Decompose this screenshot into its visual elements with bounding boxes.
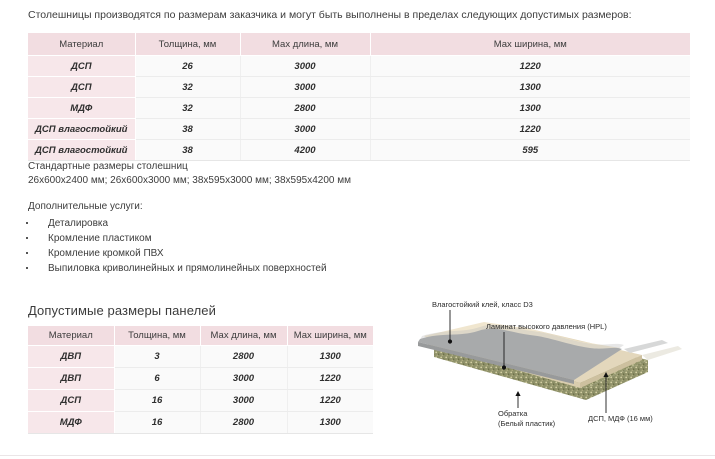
table-row: ДВП 6 3000 1220: [28, 368, 373, 390]
table-header-row: Материал Толщина, мм Мах длина, мм Мах ш…: [28, 326, 373, 346]
cell-thickness: 32: [135, 77, 240, 98]
cell-thickness: 3: [114, 346, 200, 368]
cell-max-length: 3000: [240, 56, 370, 77]
figure-label-backing: Обратка (Белый пластик): [498, 409, 555, 428]
cell-thickness: 6: [114, 368, 200, 390]
cell-material: ДСП: [28, 390, 114, 412]
services-list: Деталировка Кромление пластиком Кромлени…: [26, 216, 327, 276]
cell-max-width: 1300: [287, 412, 373, 434]
page-title-panels: Допустимые размеры панелей: [28, 303, 216, 318]
leader-dot-glue: [448, 339, 452, 343]
column-header-max-width: Мах ширина, мм: [287, 326, 373, 346]
footer-divider: [0, 455, 715, 456]
table-row: ДСП влагостойкий 38 3000 1220: [28, 119, 690, 140]
column-header-thickness: Толщина, мм: [114, 326, 200, 346]
column-header-max-width: Мах ширина, мм: [370, 33, 690, 56]
list-item: Кромление пластиком: [26, 231, 327, 246]
cell-material: ДВП: [28, 368, 114, 390]
cell-max-width: 1300: [370, 98, 690, 119]
cell-thickness: 32: [135, 98, 240, 119]
table-row: ДСП 16 3000 1220: [28, 390, 373, 412]
cell-max-length: 2800: [240, 98, 370, 119]
standard-sizes-values: 26х600х2400 мм; 26х600х3000 мм; 38х595х3…: [28, 174, 448, 188]
table-row: ДСП 26 3000 1220: [28, 56, 690, 77]
figure-label-hpl: Ламинат высокого давления (HPL): [486, 322, 607, 332]
list-item: Выпиловка криволинейных и прямолинейных …: [26, 261, 327, 276]
standard-sizes-title: Стандартные размеры столешниц: [28, 160, 448, 174]
list-item: Кромление кромкой ПВХ: [26, 246, 327, 261]
column-header-max-length: Мах длина, мм: [200, 326, 287, 346]
cell-max-length: 3000: [240, 119, 370, 140]
cell-max-width: 1300: [370, 77, 690, 98]
column-header-material: Материал: [28, 326, 114, 346]
cell-material: МДФ: [28, 98, 135, 119]
table-row: ДСП 32 3000 1300: [28, 77, 690, 98]
cell-max-width: 1300: [287, 346, 373, 368]
cell-material: ДСП влагостойкий: [28, 119, 135, 140]
table-row: ДВП 3 2800 1300: [28, 346, 373, 368]
services-title: Дополнительные услуги:: [28, 200, 143, 214]
cell-thickness: 38: [135, 140, 240, 161]
intro-paragraph: Столешницы производятся по размерам зака…: [28, 8, 698, 22]
cell-thickness: 26: [135, 56, 240, 77]
panel-cutaway-figure: Влагостойкий клей, класс D3 Ламинат высо…: [410, 296, 710, 446]
column-header-max-length: Мах длина, мм: [240, 33, 370, 56]
cell-max-width: 1220: [370, 56, 690, 77]
cell-material: ДВП: [28, 346, 114, 368]
cell-material: ДСП влагостойкий: [28, 140, 135, 161]
table-header-row: Материал Толщина, мм Мах длина, мм Мах ш…: [28, 33, 690, 56]
cell-thickness: 16: [114, 412, 200, 434]
worktop-sizes-table: Материал Толщина, мм Мах длина, мм Мах ш…: [28, 33, 690, 161]
list-item: Деталировка: [26, 216, 327, 231]
cell-max-width: 595: [370, 140, 690, 161]
leader-dot-hpl: [502, 365, 506, 369]
cell-max-length: 2800: [200, 412, 287, 434]
leader-arrow-backing: [515, 391, 520, 396]
cell-max-length: 2800: [200, 346, 287, 368]
figure-label-backing-line1: Обратка: [498, 409, 555, 419]
cell-max-length: 3000: [200, 368, 287, 390]
cell-max-width: 1220: [287, 368, 373, 390]
standard-sizes-block: Стандартные размеры столешниц 26х600х240…: [28, 160, 448, 187]
cell-thickness: 38: [135, 119, 240, 140]
cell-material: ДСП: [28, 77, 135, 98]
cell-max-width: 1220: [370, 119, 690, 140]
cell-material: МДФ: [28, 412, 114, 434]
figure-label-backing-line2: (Белый пластик): [498, 419, 555, 429]
cell-max-length: 3000: [200, 390, 287, 412]
table-row: ДСП влагостойкий 38 4200 595: [28, 140, 690, 161]
figure-label-core: ДСП, МДФ (16 мм): [588, 414, 653, 424]
table-row: МДФ 32 2800 1300: [28, 98, 690, 119]
column-header-thickness: Толщина, мм: [135, 33, 240, 56]
column-header-material: Материал: [28, 33, 135, 56]
figure-label-glue: Влагостойкий клей, класс D3: [432, 300, 533, 310]
cell-material: ДСП: [28, 56, 135, 77]
cell-max-length: 4200: [240, 140, 370, 161]
table-row: МДФ 16 2800 1300: [28, 412, 373, 434]
cell-thickness: 16: [114, 390, 200, 412]
panel-layers-diagram: [410, 296, 710, 446]
cell-max-width: 1220: [287, 390, 373, 412]
cell-max-length: 3000: [240, 77, 370, 98]
panel-sizes-table: Материал Толщина, мм Мах длина, мм Мах ш…: [28, 326, 373, 434]
page-root: Столешницы производятся по размерам зака…: [0, 0, 715, 459]
